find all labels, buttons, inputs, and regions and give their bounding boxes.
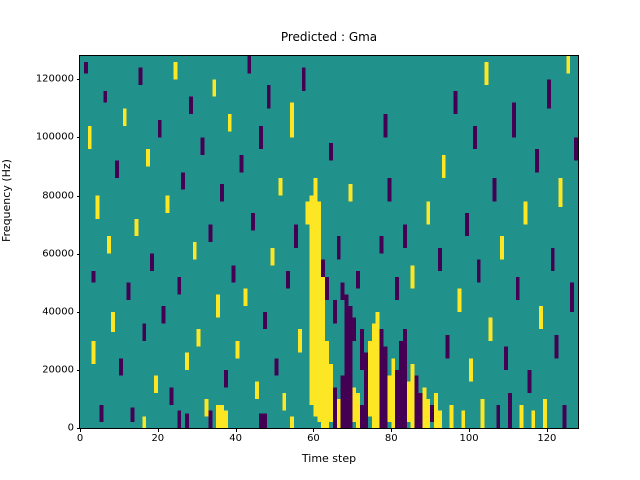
y-axis-label: Frequency (Hz) (0, 159, 13, 242)
x-tick-label: 120 (537, 433, 556, 444)
x-tick-label: 20 (151, 433, 164, 444)
y-tick-label: 80000 (42, 190, 74, 201)
x-tick-mark (313, 428, 314, 432)
y-tick-mark (77, 196, 81, 197)
y-tick-mark (77, 428, 81, 429)
y-tick-label: 0 (68, 423, 74, 434)
x-tick-label: 0 (77, 433, 83, 444)
heatmap-image (80, 56, 578, 428)
y-tick-label: 100000 (36, 132, 74, 143)
x-tick-mark (469, 428, 470, 432)
y-tick-label: 60000 (42, 248, 74, 259)
x-axis-label: Time step (80, 452, 578, 465)
x-tick-mark (236, 428, 237, 432)
y-tick-mark (77, 370, 81, 371)
x-tick-label: 60 (307, 433, 320, 444)
x-tick-mark (80, 428, 81, 432)
x-tick-label: 100 (460, 433, 479, 444)
x-tick-label: 40 (229, 433, 242, 444)
x-tick-mark (158, 428, 159, 432)
y-tick-mark (77, 137, 81, 138)
x-tick-mark (547, 428, 548, 432)
x-tick-mark (391, 428, 392, 432)
y-tick-label: 40000 (42, 306, 74, 317)
y-tick-mark (77, 79, 81, 80)
y-tick-label: 120000 (36, 74, 74, 85)
matplotlib-figure: Predicted : Gma 020406080100120 02000040… (0, 0, 640, 480)
y-tick-mark (77, 312, 81, 313)
heatmap-axes (79, 55, 579, 429)
x-tick-label: 80 (385, 433, 398, 444)
chart-title: Predicted : Gma (80, 30, 578, 44)
y-tick-mark (77, 254, 81, 255)
y-tick-label: 20000 (42, 364, 74, 375)
